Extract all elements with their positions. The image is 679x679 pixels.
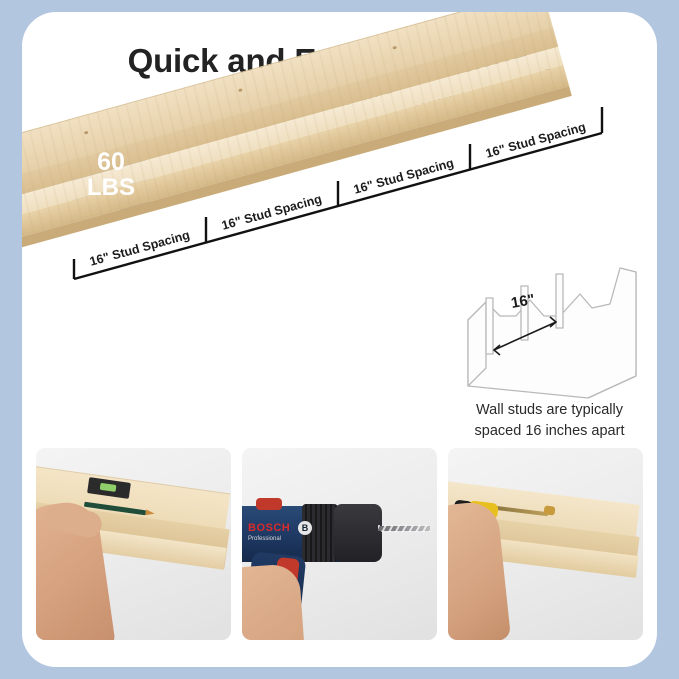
stud-diagram-caption: Wall studs are typically spaced 16 inche…	[442, 400, 657, 442]
stud-caption-line-1: Wall studs are typically	[442, 400, 657, 421]
drill-brand-badge-icon: B	[298, 521, 312, 535]
content-card: Quick and Easy Installation Quickly Asse…	[22, 12, 657, 667]
weight-number: 60	[70, 150, 152, 176]
infographic-root: Quick and Easy Installation Quickly Asse…	[0, 0, 679, 679]
installation-steps-gallery: BOSCH Professional B	[36, 448, 643, 643]
weight-icon-label: 60 LBS	[70, 150, 152, 200]
drill-direction-switch	[256, 498, 282, 510]
step-photo-mark-position	[36, 448, 231, 640]
screw	[543, 505, 555, 515]
wall-stud-svg: 16"	[460, 264, 645, 399]
step-photo-screw-shelf	[448, 448, 643, 640]
stud-caption-line-2: spaced 16 inches apart	[442, 421, 657, 442]
drill-chuck	[334, 504, 382, 562]
stud-3	[556, 274, 563, 328]
stud-1	[486, 298, 493, 354]
step-photo-drill-hole: BOSCH Professional B	[242, 448, 437, 640]
drill-bit	[378, 526, 430, 531]
wall-stud-diagram: 16"	[460, 264, 645, 399]
weight-unit: LBS	[70, 176, 152, 200]
drill-brand-label: BOSCH	[248, 522, 290, 534]
drill-brand-sublabel: Professional	[248, 536, 281, 542]
